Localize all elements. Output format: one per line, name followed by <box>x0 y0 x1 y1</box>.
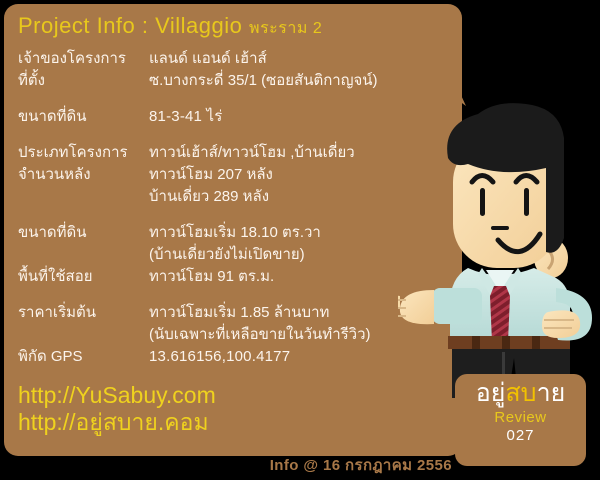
character-belt <box>448 336 570 349</box>
row-label: พื้นที่ใช้สอย <box>18 266 149 288</box>
row-value: แลนด์ แอนด์ เฮ้าส์ <box>149 48 267 70</box>
table-row: ที่ตั้ง ซ.บางกระดี่ 35/1 (ซอยสันติกาญจน์… <box>18 70 462 92</box>
table-row: เจ้าของโครงการ แลนด์ แอนด์ เฮ้าส์ <box>18 48 462 70</box>
row-value: ทาวน์โฮมเริ่ม 18.10 ตร.วา <box>149 222 321 244</box>
character-pointing-arm <box>398 288 482 324</box>
row-label: ประเภทโครงการ <box>18 142 149 164</box>
row-value: 81-3-41 ไร่ <box>149 106 222 128</box>
row-value: ทาวน์โฮม 91 ตร.ม. <box>149 266 274 288</box>
page-title-sub: พระราม 2 <box>249 20 322 37</box>
review-number: 027 <box>455 427 586 445</box>
row-label: จำนวนหลัง <box>18 164 149 186</box>
footer-info-date: Info @ 16 กรกฎาคม 2556 <box>240 456 452 476</box>
row-label: ที่ตั้ง <box>18 70 149 92</box>
link-yusabuy-com[interactable]: http://YuSabuy.com <box>18 382 462 409</box>
row-label: ราคาเริ่มต้น <box>18 302 149 324</box>
table-row: พิกัด GPS 13.616156,100.4177 <box>18 346 462 368</box>
table-row: ขนาดที่ดิน ทาวน์โฮมเริ่ม 18.10 ตร.วา <box>18 222 462 244</box>
row-label: ขนาดที่ดิน <box>18 106 149 128</box>
logo-wordmark: อยู่สบาย <box>455 378 586 408</box>
table-row: ราคาเริ่มต้น ทาวน์โฮมเริ่ม 1.85 ล้านบาท <box>18 302 462 324</box>
page-title-main: Project Info : Villaggio <box>18 13 242 38</box>
page-title: Project Info : Villaggio พระราม 2 <box>18 13 462 42</box>
logo-word-post: าย <box>537 379 566 407</box>
row-value: ทาวน์โฮม 207 หลัง <box>149 164 273 186</box>
table-row: จำนวนหลัง ทาวน์โฮม 207 หลัง <box>18 164 462 186</box>
row-value: ทาวน์เฮ้าส์/ทาวน์โฮม ,บ้านเดี่ยว <box>149 142 355 164</box>
yusabuy-logo-badge: อยู่สบาย Review 027 <box>455 374 586 466</box>
table-row: ขนาดที่ดิน 81-3-41 ไร่ <box>18 106 462 128</box>
review-label: Review <box>455 408 586 427</box>
screenshot-stage: Project Info : Villaggio พระราม 2 เจ้าขอ… <box>0 0 600 480</box>
row-label: ขนาดที่ดิน <box>18 222 149 244</box>
row-label: พิกัด GPS <box>18 346 149 368</box>
link-yusabuy-thai[interactable]: http://อยู่สบาย.คอม <box>18 409 462 436</box>
logo-word-highlight: สบ <box>505 379 536 407</box>
cartoon-man-illustration <box>398 100 600 398</box>
table-row: ประเภทโครงการ ทาวน์เฮ้าส์/ทาวน์โฮม ,บ้าน… <box>18 142 462 164</box>
project-info-panel: Project Info : Villaggio พระราม 2 เจ้าขอ… <box>4 4 462 456</box>
table-row: พื้นที่ใช้สอย ทาวน์โฮม 91 ตร.ม. <box>18 266 462 288</box>
row-value-gps: 13.616156,100.4177 <box>149 346 290 368</box>
row-value: ทาวน์โฮมเริ่ม 1.85 ล้านบาท <box>149 302 329 324</box>
row-label: เจ้าของโครงการ <box>18 48 149 70</box>
website-links: http://YuSabuy.com http://อยู่สบาย.คอม <box>18 382 462 436</box>
project-detail-rows: เจ้าของโครงการ แลนด์ แอนด์ เฮ้าส์ ที่ตั้… <box>18 48 462 368</box>
row-value: ซ.บางกระดี่ 35/1 (ซอยสันติกาญจน์) <box>149 70 378 92</box>
logo-word-pre: อยู่ <box>476 379 506 407</box>
